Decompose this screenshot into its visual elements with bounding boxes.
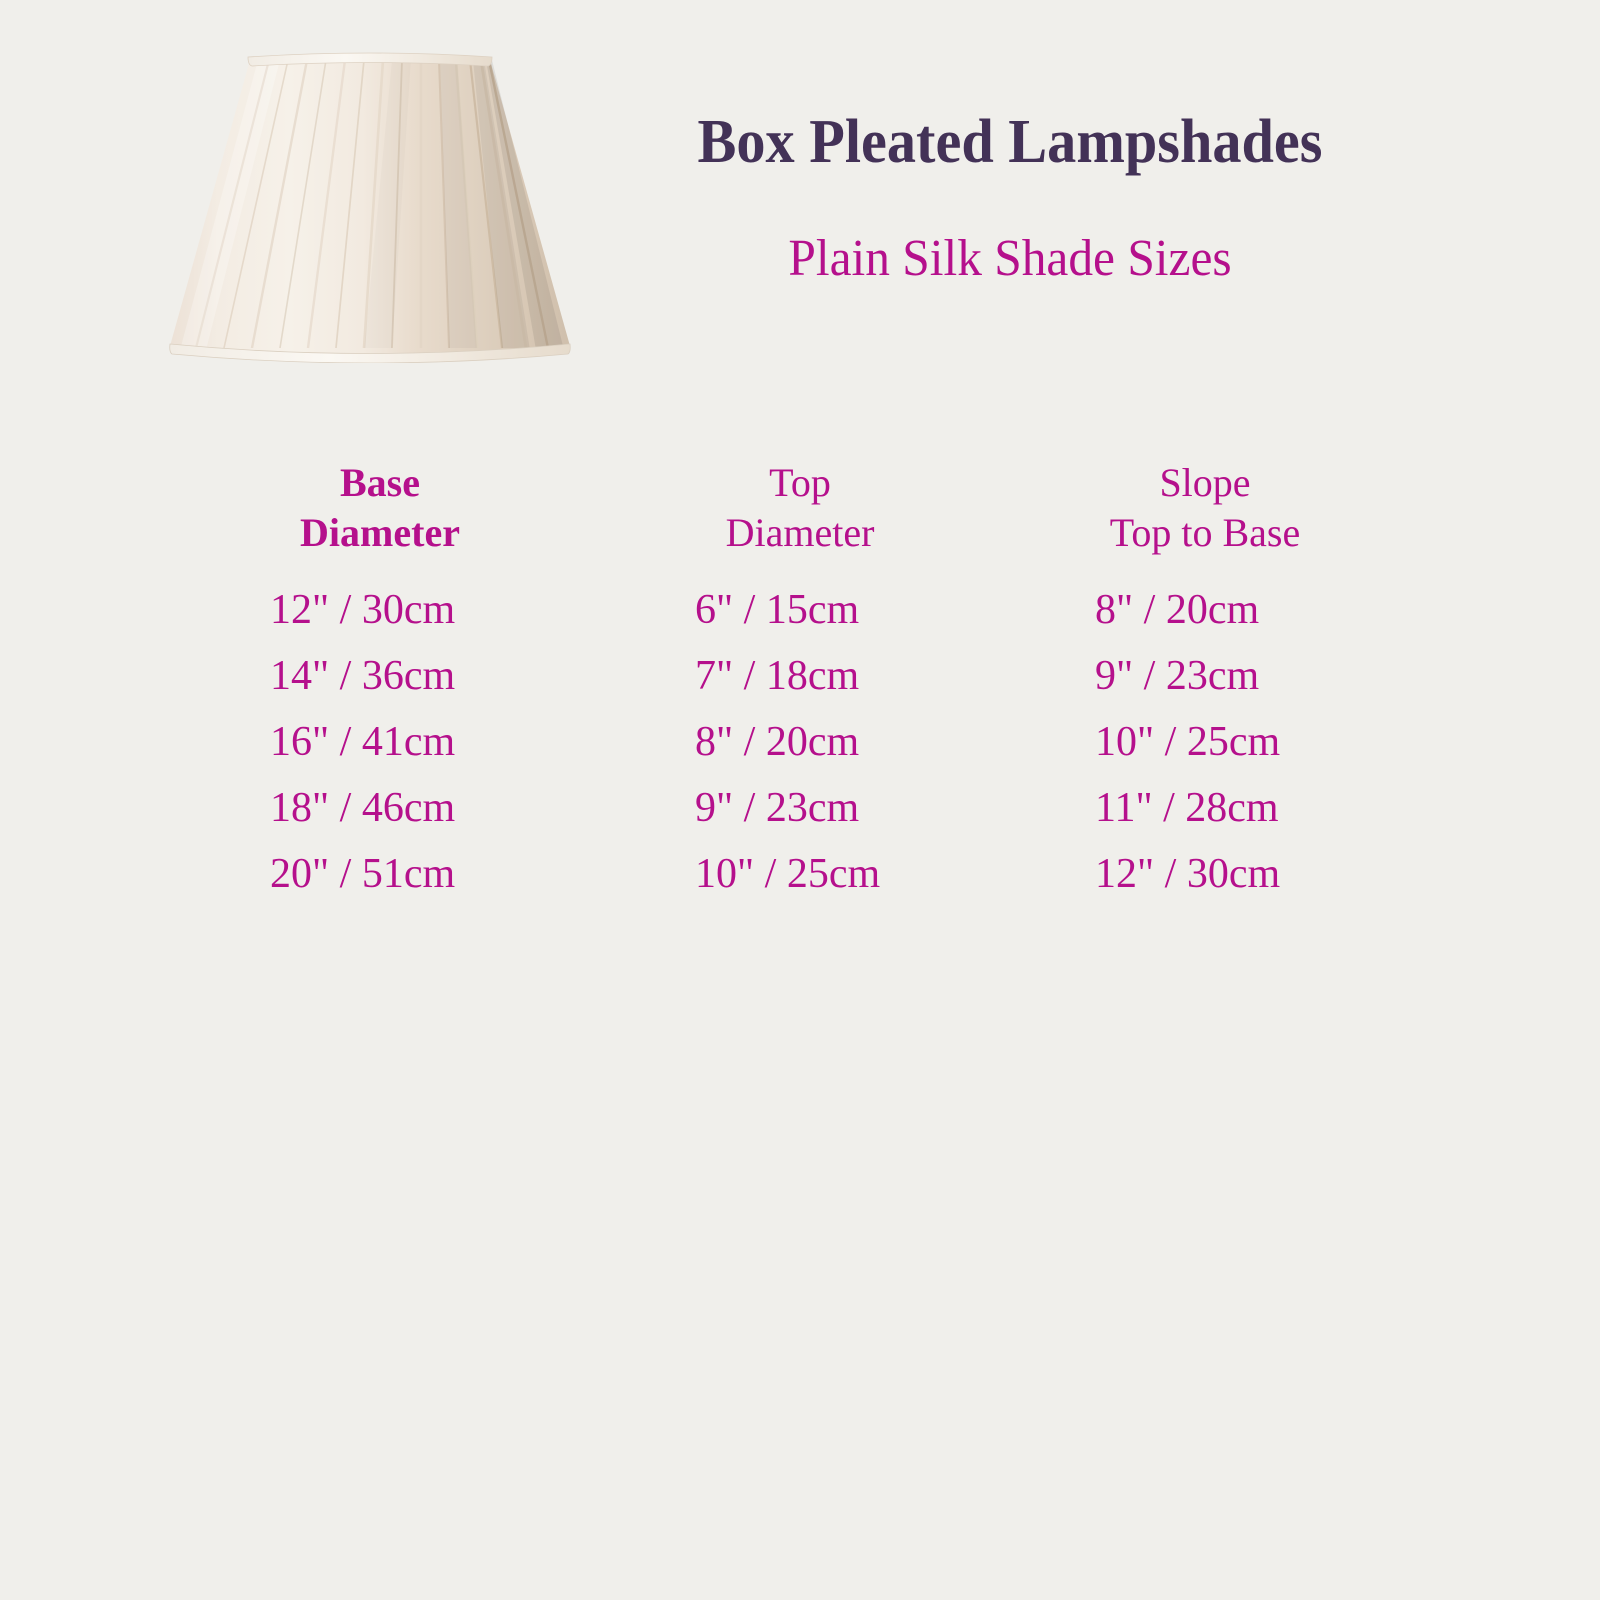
table-row: 9" / 23cm — [1095, 643, 1385, 709]
table-row: 12" / 30cm — [1095, 841, 1385, 907]
table-row: 18" / 46cm — [270, 775, 560, 841]
column-values-slope-top-to-base: 8" / 20cm 9" / 23cm 10" / 25cm 11" / 28c… — [1025, 577, 1385, 907]
column-top-diameter: Top Diameter 6" / 15cm 7" / 18cm 8" / 20… — [620, 458, 980, 907]
column-header-base-diameter-line2: Diameter — [200, 508, 560, 558]
column-values-top-diameter: 6" / 15cm 7" / 18cm 8" / 20cm 9" / 23cm … — [620, 577, 980, 907]
lampshade-product-image — [140, 18, 600, 363]
column-header-slope-top-to-base: Slope Top to Base — [1025, 458, 1385, 558]
table-row: 11" / 28cm — [1095, 775, 1385, 841]
page-subtitle: Plain Silk Shade Sizes — [583, 232, 1438, 287]
page-title: Box Pleated Lampshades — [587, 110, 1433, 175]
table-row: 20" / 51cm — [270, 841, 560, 907]
table-row: 10" / 25cm — [695, 841, 980, 907]
page-root: Box Pleated Lampshades Plain Silk Shade … — [0, 0, 1600, 1600]
table-row: 14" / 36cm — [270, 643, 560, 709]
column-header-slope-line2: Top to Base — [1025, 508, 1385, 558]
column-header-top-diameter-line2: Diameter — [620, 508, 980, 558]
table-row: 7" / 18cm — [695, 643, 980, 709]
column-header-top-diameter-line1: Top — [769, 460, 831, 505]
table-row: 9" / 23cm — [695, 775, 980, 841]
column-header-top-diameter: Top Diameter — [620, 458, 980, 558]
column-header-base-diameter: Base Diameter — [200, 458, 560, 558]
shade-body — [170, 60, 570, 354]
table-row: 8" / 20cm — [695, 709, 980, 775]
column-base-diameter: Base Diameter 12" / 30cm 14" / 36cm 16" … — [200, 458, 560, 907]
column-header-slope-line1: Slope — [1159, 460, 1250, 505]
column-header-base-diameter-line1: Base — [340, 460, 420, 505]
table-row: 6" / 15cm — [695, 577, 980, 643]
table-row: 10" / 25cm — [1095, 709, 1385, 775]
table-row: 8" / 20cm — [1095, 577, 1385, 643]
column-values-base-diameter: 12" / 30cm 14" / 36cm 16" / 41cm 18" / 4… — [200, 577, 560, 907]
table-row: 12" / 30cm — [270, 577, 560, 643]
column-slope-top-to-base: Slope Top to Base 8" / 20cm 9" / 23cm 10… — [1025, 458, 1385, 907]
table-row: 16" / 41cm — [270, 709, 560, 775]
